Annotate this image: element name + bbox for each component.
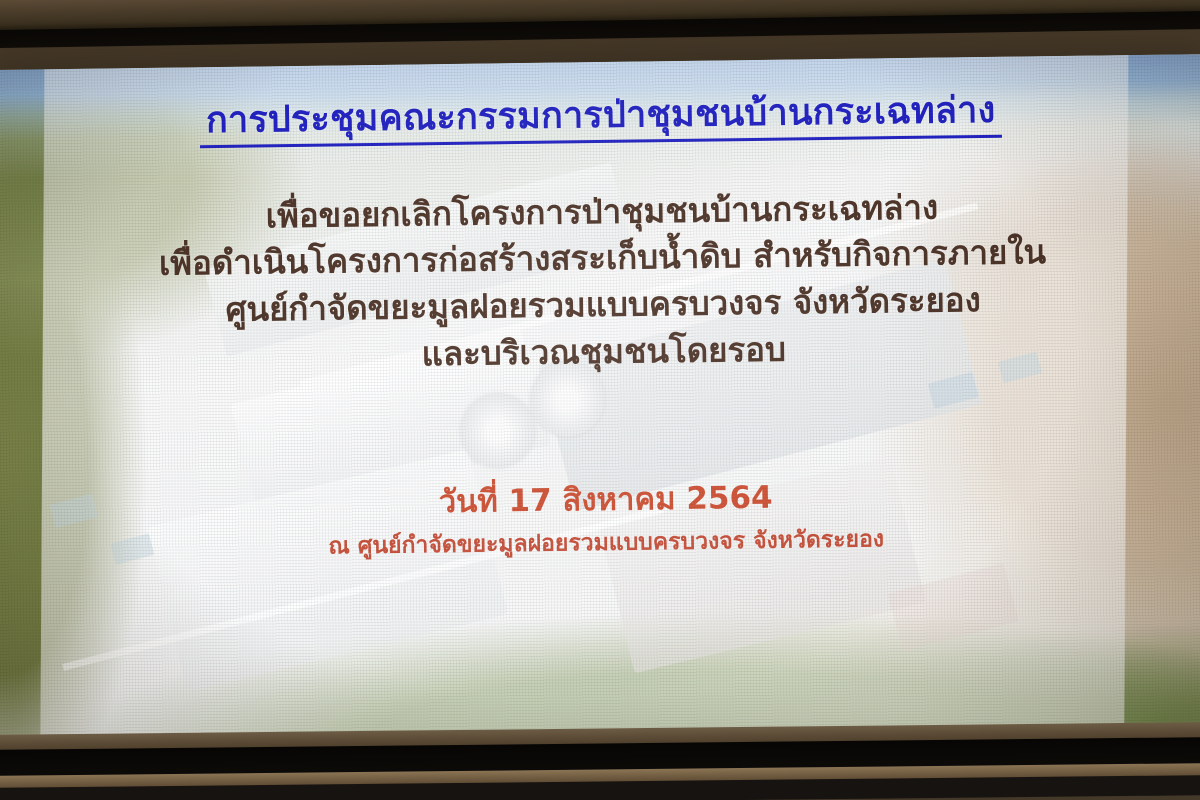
projector-room: การประชุมคณะกรรมการป่าชุมชนบ้านกระเฉทล่า… — [0, 0, 1200, 800]
slide-title: การประชุมคณะกรรมการป่าชุมชนบ้านกระเฉทล่า… — [200, 91, 1002, 148]
slide-content: การประชุมคณะกรรมการป่าชุมชนบ้านกระเฉทล่า… — [0, 54, 1200, 742]
slide-footer: วันที่ 17 สิงหาคม 2564 ณ ศูนย์กำจัดขยะมู… — [328, 476, 885, 564]
projection-screen: การประชุมคณะกรรมการป่าชุมชนบ้านกระเฉทล่า… — [0, 54, 1200, 742]
event-date: วันที่ 17 สิงหาคม 2564 — [328, 476, 884, 524]
slide-body: เพื่อขอยกเลิกโครงการป่าชุมชนบ้านกระเฉทล่… — [158, 183, 1047, 382]
event-venue: ณ ศูนย์กำจัดขยะมูลฝอยรวมแบบครบวงจร จังหว… — [328, 523, 884, 565]
